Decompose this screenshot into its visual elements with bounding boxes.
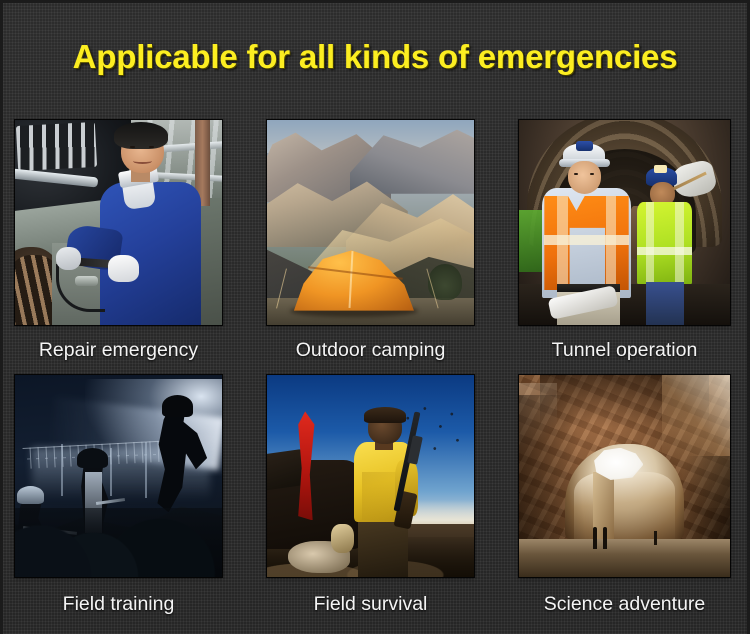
mechanic-eye-left xyxy=(130,146,135,148)
worker-a-eye-right xyxy=(590,173,594,175)
worker-b-helmet-lamp xyxy=(654,165,667,173)
worker-b-vest-stripe-left xyxy=(646,202,654,284)
explorer-figure-3 xyxy=(654,531,657,545)
mechanic-eye-right xyxy=(149,146,154,148)
mechanic-hair xyxy=(114,122,168,149)
bottom-edge-strip xyxy=(0,634,750,640)
worker-a-vest-stripe-right xyxy=(606,196,617,290)
grid-cell-field-training[interactable]: Field training xyxy=(15,375,222,631)
wire-post-2 xyxy=(110,448,112,496)
page-title: Applicable for all kinds of emergencies xyxy=(0,38,750,76)
caption-field-survival: Field survival xyxy=(267,577,474,631)
mechanic-smile xyxy=(133,158,152,164)
product-feature-poster: Applicable for all kinds of emergencies xyxy=(0,0,750,640)
wire-post-1 xyxy=(61,444,63,497)
grid-cell-science-adventure[interactable]: Science adventure xyxy=(519,375,730,631)
wire-post-3 xyxy=(145,442,147,499)
caption-tunnel-operation: Tunnel operation xyxy=(519,325,730,375)
cave-floor xyxy=(519,539,730,577)
hunter-cap xyxy=(364,407,405,423)
grid-row-2: Field training xyxy=(15,375,731,631)
worker-a-face xyxy=(568,161,602,194)
feature-grid: Repair emergency xyxy=(15,120,731,631)
image-soldiers-night-training xyxy=(15,375,222,577)
mechanic-glove-right xyxy=(108,255,139,282)
caption-field-training: Field training xyxy=(15,577,222,631)
mechanic-glove-left xyxy=(56,247,81,270)
worker-a-helmet-lamp xyxy=(576,141,593,151)
caption-repair-emergency: Repair emergency xyxy=(15,325,222,375)
explorer-figure-1 xyxy=(593,527,597,549)
foreground-bushes xyxy=(15,508,222,577)
grid-row-1: Repair emergency xyxy=(15,120,731,375)
caption-science-adventure: Science adventure xyxy=(519,577,730,631)
image-orange-tent-mountains xyxy=(267,120,474,325)
car-grille xyxy=(16,122,97,171)
image-hunter-with-rifle xyxy=(267,375,474,577)
caption-outdoor-camping: Outdoor camping xyxy=(267,325,474,375)
game-carcass-leg xyxy=(331,524,354,552)
image-mechanic-repairing-car xyxy=(15,120,222,325)
soldier-right-helmet xyxy=(162,395,193,417)
soldier-left-helmet xyxy=(17,486,44,504)
worker-a-vest-stripe-left xyxy=(557,196,568,290)
explorer-figure-2 xyxy=(603,527,607,549)
image-tunnel-workers xyxy=(519,120,730,325)
grid-cell-outdoor-camping[interactable]: Outdoor camping xyxy=(267,120,474,375)
grid-cell-field-survival[interactable]: Field survival xyxy=(267,375,474,631)
image-rock-cave-arch xyxy=(519,375,730,577)
worker-b-jeans xyxy=(646,282,684,325)
worker-b-vest-stripe-right xyxy=(675,202,683,284)
grid-cell-repair-emergency[interactable]: Repair emergency xyxy=(15,120,222,375)
grid-cell-tunnel-operation[interactable]: Tunnel operation xyxy=(519,120,730,375)
soldier-center-helmet xyxy=(77,448,108,468)
